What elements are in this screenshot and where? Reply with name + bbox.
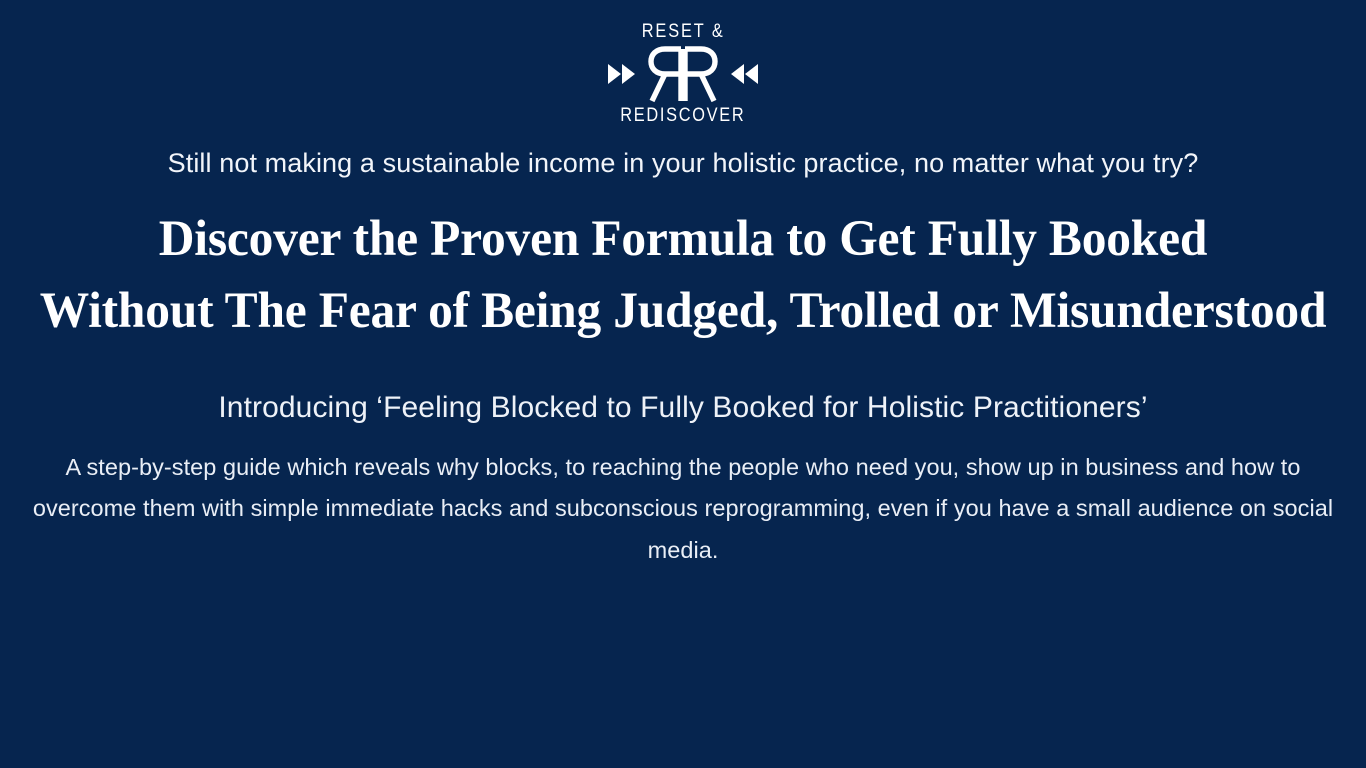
mirrored-r-glyph [651,49,681,101]
page-title: Discover the Proven Formula to Get Fully… [28,203,1338,348]
right-chevron-icon [731,64,758,84]
left-chevron-icon [608,64,635,84]
logo-top-wordmark: RESET & [642,22,725,41]
product-intro-text: Introducing ‘Feeling Blocked to Fully Bo… [23,388,1343,427]
r-glyph [685,49,715,101]
headline-line-2: Without The Fear of Being Judged, Trolle… [28,275,1338,347]
eyebrow-text: Still not making a sustainable income in… [23,147,1343,181]
body-description: A step-by-step guide which reveals why b… [23,447,1343,572]
brand-logo: RESET & [598,22,768,125]
logo-monogram-icon [608,45,758,103]
headline-line-1: Discover the Proven Formula to Get Fully… [28,203,1338,275]
logo-bottom-wordmark: REDISCOVER [620,106,745,125]
hero-section: RESET & [0,0,1366,768]
